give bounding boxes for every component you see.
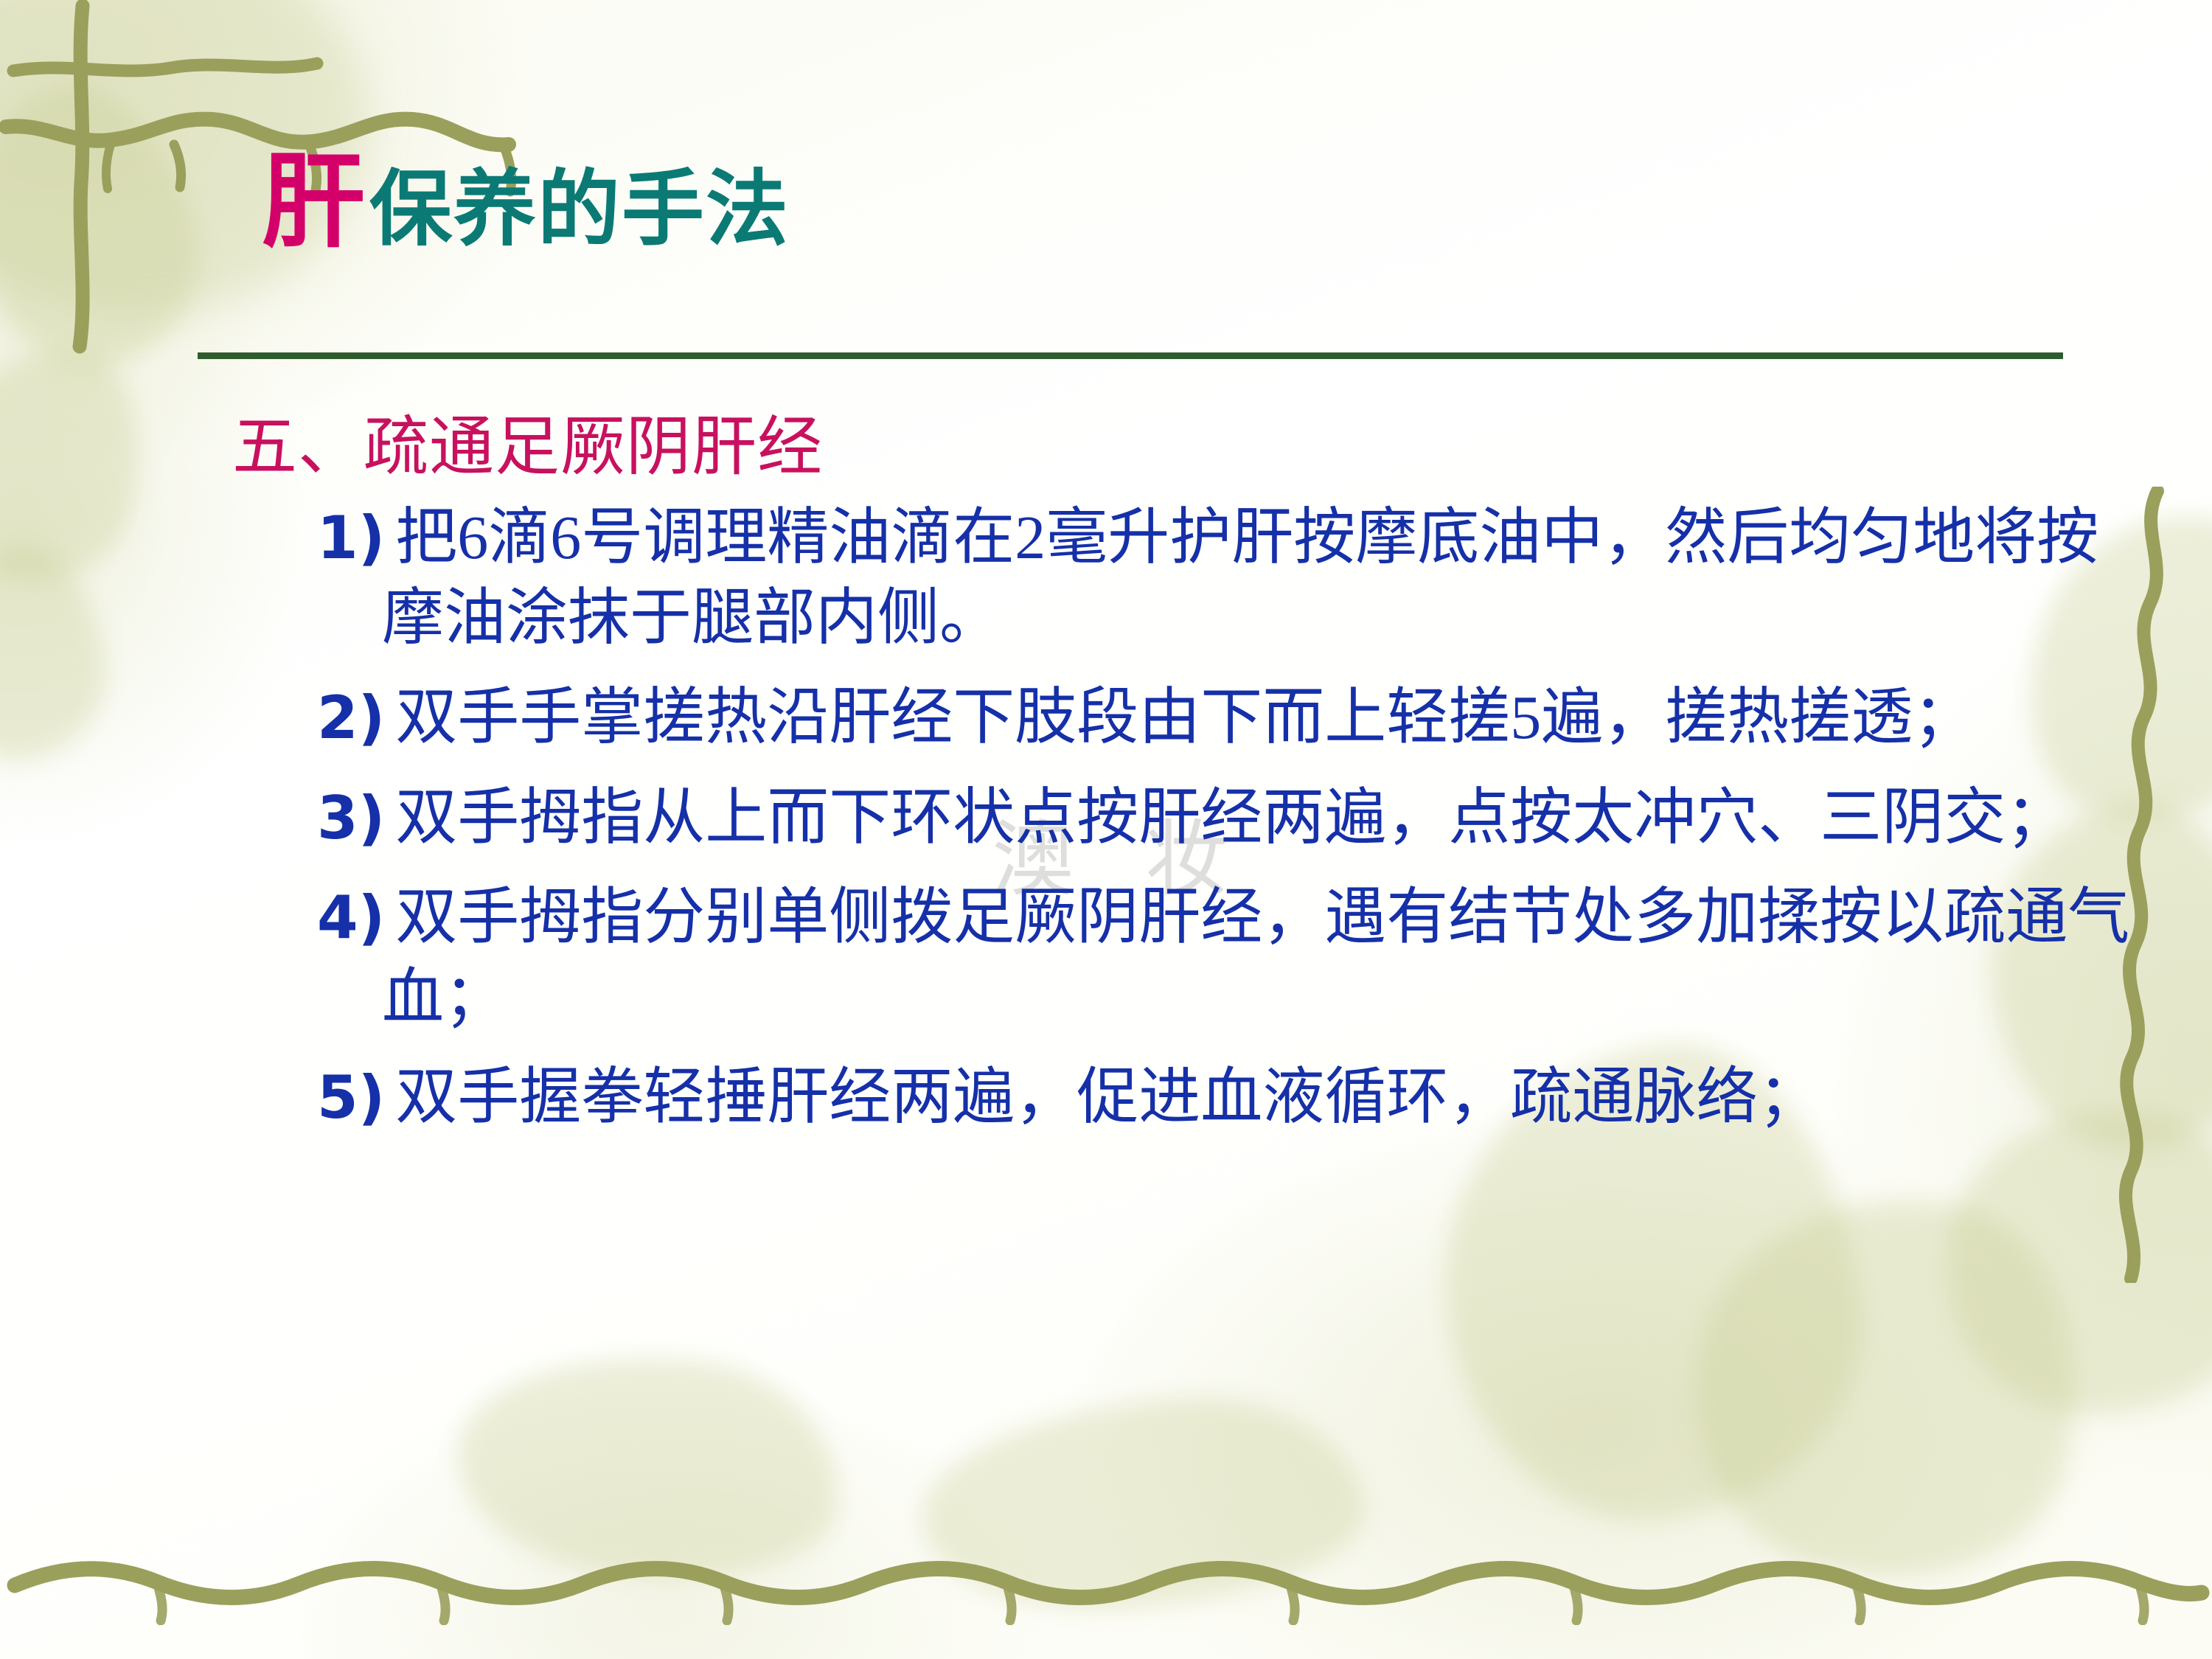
bottom-wave-border-decoration xyxy=(0,1537,2212,1625)
list-item-number: 4) xyxy=(317,883,395,952)
list-item-text: 双手拇指分别单侧拨足厥阴肝经，遇有结节处多加揉按以疏通气血； xyxy=(382,883,2129,1032)
list-item-number: 3) xyxy=(317,784,395,852)
list-item-text: 双手手掌搓热沿肝经下肢段由下而上轻搓5遍，搓热搓透； xyxy=(395,684,1975,752)
list-item-text: 把6滴6号调理精油滴在2毫升护肝按摩底油中，然后均匀地将按摩油涂抹于腿部内侧。 xyxy=(382,504,2098,653)
section-heading: 五、疏通足厥阴肝经 xyxy=(232,394,823,488)
list-item-number: 5) xyxy=(317,1063,395,1132)
list-item-text: 双手拇指从上而下环状点按肝经两遍，点按太冲穴、三阴交； xyxy=(395,784,2067,852)
slide-title-accent-char: 肝 xyxy=(262,151,365,254)
numbered-list: 1)把6滴6号调理精油滴在2毫升护肝按摩底油中，然后均匀地将按摩油涂抹于腿部内侧… xyxy=(317,498,2146,1157)
list-item: 2)双手手掌搓热沿肝经下肢段由下而上轻搓5遍，搓热搓透； xyxy=(317,678,2146,758)
title-underline-rule xyxy=(198,352,2063,359)
list-item: 3)双手拇指从上而下环状点按肝经两遍，点按太冲穴、三阴交； xyxy=(317,778,2146,858)
slide-title: 肝 保养的手法 xyxy=(262,151,790,254)
list-item-text: 双手握拳轻捶肝经两遍，促进血液循环，疏通脉络； xyxy=(395,1063,1820,1132)
list-item: 4)双手拇指分别单侧拨足厥阴肝经，遇有结节处多加揉按以疏通气血； xyxy=(317,877,2146,1038)
slide-title-rest: 保养的手法 xyxy=(369,168,790,251)
list-item: 5)双手握拳轻捶肝经两遍，促进血液循环，疏通脉络； xyxy=(317,1057,2146,1138)
list-item-number: 1) xyxy=(317,504,395,572)
list-item: 1)把6滴6号调理精油滴在2毫升护肝按摩底油中，然后均匀地将按摩油涂抹于腿部内侧… xyxy=(317,498,2146,658)
list-item-number: 2) xyxy=(317,684,395,752)
slide-canvas: 肝 保养的手法 五、疏通足厥阴肝经 澳 妆 1)把6滴6号调理精油滴在2毫升护肝… xyxy=(0,0,2212,1659)
